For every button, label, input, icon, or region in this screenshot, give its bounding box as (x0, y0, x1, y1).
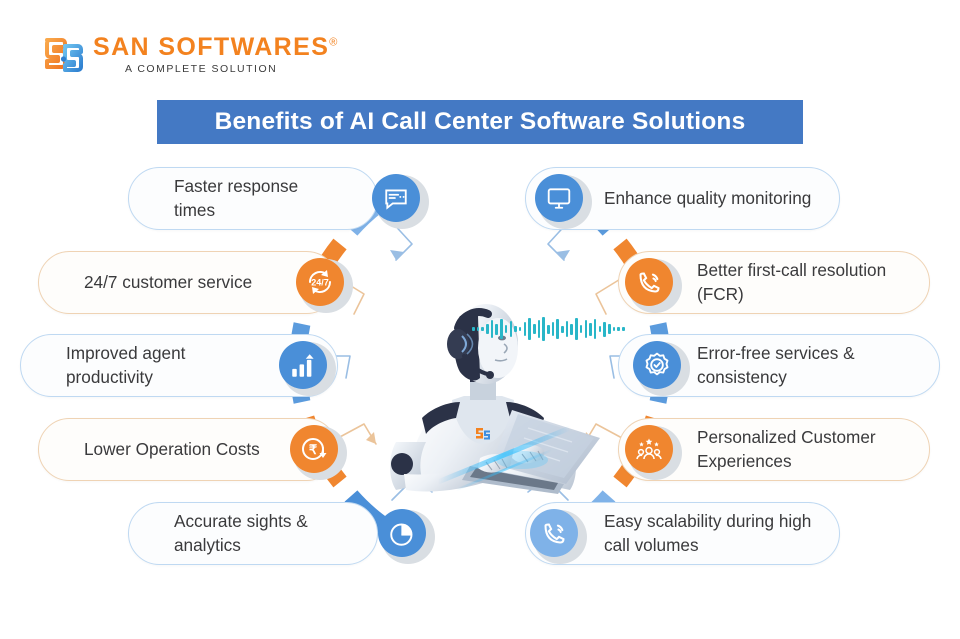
24-7-refresh-icon[interactable]: 24/7 (296, 258, 344, 306)
voice-waveform (472, 314, 625, 344)
waveform-bar (491, 320, 494, 338)
benefit-card-faster-response-times[interactable]: Faster response times (128, 167, 378, 230)
waveform-bar (472, 327, 475, 331)
waveform-bar (561, 326, 564, 333)
waveform-bar (566, 321, 569, 337)
brand-logo: SAN SOFTWARES® A COMPLETE SOLUTION (44, 34, 339, 76)
waveform-bar (533, 324, 536, 334)
waveform-bar (622, 327, 625, 331)
benefit-card-accurate-sights-analytics[interactable]: Accurate sights & analytics (128, 502, 378, 565)
people-group-icon[interactable] (625, 425, 673, 473)
waveform-bar (552, 322, 555, 336)
waveform-bar (580, 325, 583, 333)
waveform-bar (585, 320, 588, 338)
brand-name-text: SAN SOFTWARES (93, 33, 329, 61)
waveform-bar (505, 325, 508, 333)
waveform-bar (570, 324, 573, 335)
waveform-bar (528, 318, 531, 340)
rupee-cost-down-icon[interactable]: ₹ (290, 425, 338, 473)
waveform-bar (486, 324, 489, 334)
waveform-bar (510, 321, 513, 337)
chat-bubble-icon[interactable] (372, 174, 420, 222)
brand-tagline: A COMPLETE SOLUTION (125, 63, 339, 75)
waveform-bar (481, 327, 484, 331)
waveform-bar (589, 323, 592, 336)
benefit-label: Faster response times (129, 175, 377, 221)
monitor-screen-icon[interactable] (535, 174, 583, 222)
svg-text:24/7: 24/7 (311, 278, 329, 288)
waveform-bar (542, 317, 545, 341)
waveform-bar (477, 327, 480, 331)
waveform-bar (500, 319, 503, 339)
waveform-bar (556, 319, 559, 339)
brand-name: SAN SOFTWARES® (93, 35, 339, 60)
ai-robot-illustration (352, 232, 614, 494)
benefit-card-24-7-customer-service[interactable]: 24/7 customer service (38, 251, 338, 314)
waveform-bar (547, 325, 550, 334)
waveform-bar (599, 326, 602, 332)
waveform-bar (575, 318, 578, 340)
waveform-bar (524, 322, 527, 336)
bar-chart-growth-icon[interactable] (279, 341, 327, 389)
waveform-bar (608, 324, 611, 334)
waveform-bar (514, 326, 517, 332)
waveform-bar (495, 324, 498, 335)
benefit-label: Accurate sights & analytics (129, 510, 377, 556)
page-title: Benefits of AI Call Center Software Solu… (215, 108, 746, 136)
page-title-banner: Benefits of AI Call Center Software Solu… (157, 100, 803, 144)
double-s-logo-icon (44, 34, 84, 76)
verified-badge-icon[interactable] (633, 341, 681, 389)
waveform-bar (617, 327, 620, 331)
waveform-bar (603, 322, 606, 337)
benefit-label: 24/7 customer service (39, 271, 314, 294)
waveform-bar (613, 327, 616, 331)
benefit-label: Lower Operation Costs (39, 438, 322, 461)
waveform-bar (538, 320, 541, 338)
svg-text:₹: ₹ (309, 442, 318, 457)
waveform-bar (519, 327, 522, 331)
phone-ringing-icon[interactable] (625, 258, 673, 306)
infographic-page: SAN SOFTWARES® A COMPLETE SOLUTION Benef… (0, 0, 960, 639)
waveform-bar (594, 319, 597, 339)
phone-ringing-icon[interactable] (530, 509, 578, 557)
registered-mark: ® (329, 37, 339, 49)
pie-chart-icon[interactable] (378, 509, 426, 557)
